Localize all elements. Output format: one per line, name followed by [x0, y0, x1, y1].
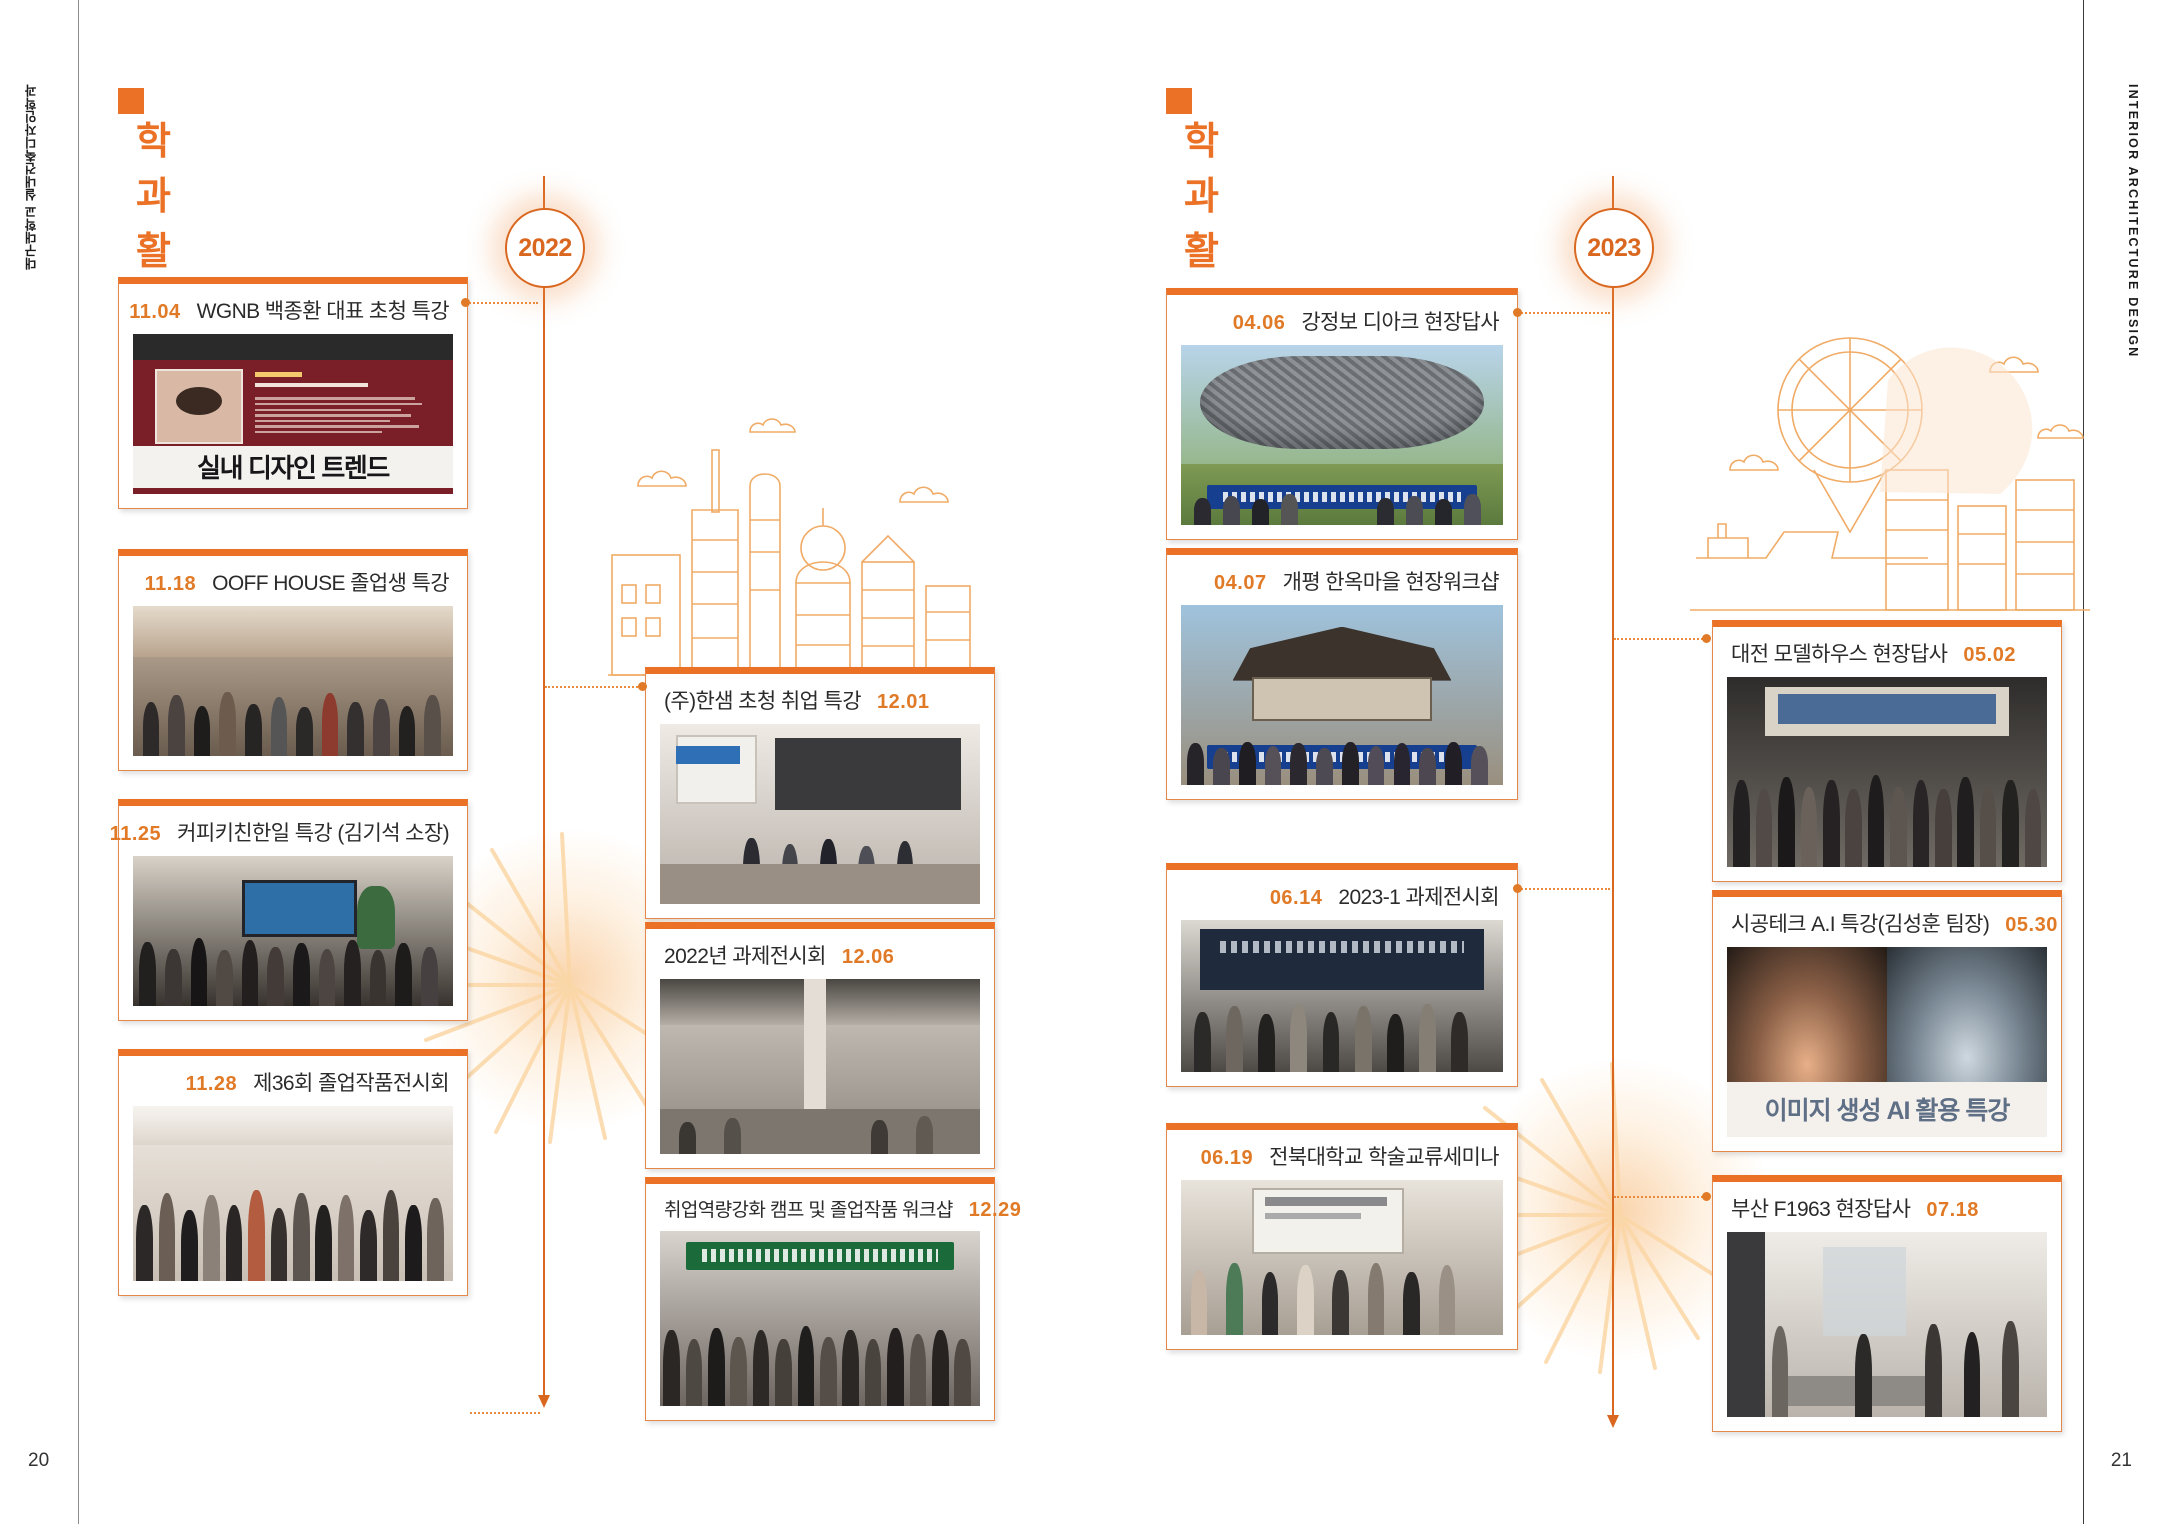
- event-card[interactable]: 부산 F1963 현장답사 07.18: [1712, 1175, 2062, 1432]
- year-badge-2022: 2022: [505, 208, 585, 288]
- connector-dot: [1513, 884, 1522, 893]
- event-card[interactable]: (주)한샘 초청 취업 특강 12.01: [645, 667, 995, 919]
- event-date: 07.18: [1926, 1199, 1979, 1222]
- magazine-spread: 대구대학교 실내건축디자인학과 INTERIOR ARCHITECTURE DE…: [0, 0, 2162, 1524]
- lecture-poster-image: 실내 디자인 트렌드: [133, 334, 453, 494]
- card-header: 11.25 커피키친한일 특강 (김기석 소장): [119, 806, 467, 856]
- event-title: 강정보 디아크 현장답사: [1301, 306, 1499, 336]
- event-photo: [1727, 677, 2047, 867]
- connector-line: [1614, 1196, 1706, 1198]
- event-title: 취업역량강화 캠프 및 졸업작품 워크샵: [664, 1195, 953, 1222]
- city-lineart-illustration: [600, 390, 980, 690]
- connector-line: [466, 302, 538, 304]
- event-photo: [660, 724, 980, 904]
- card-header: 11.28 제36회 졸업작품전시회: [119, 1056, 467, 1106]
- connector-line: [1614, 638, 1706, 640]
- card-header: 취업역량강화 캠프 및 졸업작품 워크샵 12.29: [646, 1184, 994, 1231]
- event-card[interactable]: 11.18 OOFF HOUSE 졸업생 특강: [118, 549, 468, 771]
- event-title: 부산 F1963 현장답사: [1731, 1193, 1910, 1223]
- card-header: 06.14 2023-1 과제전시회: [1167, 870, 1517, 920]
- event-photo: [133, 1106, 453, 1281]
- card-header: (주)한샘 초청 취업 특강 12.01: [646, 674, 994, 724]
- timeline-arrow-right: [1607, 1415, 1619, 1428]
- connector-dot: [1513, 308, 1522, 317]
- connector-line: [470, 1412, 540, 1414]
- event-title: 시공테크 A.I 특강(김성훈 팀장): [1731, 908, 1989, 938]
- event-date: 11.04: [129, 301, 180, 324]
- event-date: 06.14: [1270, 887, 1323, 910]
- left-margin-rule: [78, 0, 79, 1524]
- card-header: 시공테크 A.I 특강(김성훈 팀장) 05.30: [1713, 897, 2061, 947]
- timeline-spine-right: [1612, 176, 1614, 1416]
- page-number-right: 21: [2111, 1450, 2132, 1472]
- event-photo: [660, 979, 980, 1154]
- event-card[interactable]: 06.19 전북대학교 학술교류세미나: [1166, 1123, 1518, 1350]
- event-card[interactable]: 11.25 커피키친한일 특강 (김기석 소장): [118, 799, 468, 1021]
- connector-line: [1518, 312, 1610, 314]
- department-vertical-label: 대구대학교 실내건축디자인학과: [22, 84, 41, 270]
- event-photo: [133, 606, 453, 756]
- year-badge-2023: 2023: [1574, 208, 1654, 288]
- event-date: 05.02: [1963, 644, 2016, 667]
- card-header: 2022년 과제전시회 12.06: [646, 929, 994, 979]
- event-title: 제36회 졸업작품전시회: [253, 1067, 449, 1097]
- event-photo: [1181, 920, 1503, 1072]
- card-header: 04.06 강정보 디아크 현장답사: [1167, 295, 1517, 345]
- event-title: 전북대학교 학술교류세미나: [1269, 1141, 1499, 1171]
- event-card[interactable]: 시공테크 A.I 특강(김성훈 팀장) 05.30 이미지 생성 AI 활용 특…: [1712, 890, 2062, 1152]
- connector-dot: [461, 298, 470, 307]
- page-number-left: 20: [28, 1450, 49, 1472]
- connector-dot: [638, 682, 647, 691]
- event-title: 2022년 과제전시회: [664, 940, 826, 970]
- harbour-lineart-illustration: [1690, 320, 2090, 630]
- connector-line: [545, 686, 641, 688]
- card-header: 04.07 개평 한옥마을 현장워크샵: [1167, 555, 1517, 605]
- event-title: WGNB 백종환 대표 초청 특강: [197, 295, 449, 325]
- event-photo: [1181, 345, 1503, 525]
- event-date: 11.28: [186, 1073, 237, 1096]
- event-title: 2023-1 과제전시회: [1338, 881, 1499, 911]
- event-card[interactable]: 06.14 2023-1 과제전시회: [1166, 863, 1518, 1087]
- event-date: 11.18: [145, 573, 196, 596]
- connector-dot: [1702, 634, 1711, 643]
- event-date: 11.25: [110, 823, 161, 846]
- event-card[interactable]: 11.04 WGNB 백종환 대표 초청 특강 실내 디자인 트렌드: [118, 277, 468, 509]
- event-photo: [1181, 1180, 1503, 1335]
- event-card[interactable]: 취업역량강화 캠프 및 졸업작품 워크샵 12.29: [645, 1177, 995, 1421]
- timeline-spine-left: [543, 176, 545, 1396]
- card-header: 11.04 WGNB 백종환 대표 초청 특강: [119, 284, 467, 334]
- event-card[interactable]: 11.28 제36회 졸업작품전시회: [118, 1049, 468, 1296]
- connector-dot: [1702, 1192, 1711, 1201]
- connector-line: [1518, 888, 1610, 890]
- ai-image-caption: 이미지 생성 AI 활용 특강: [1727, 1082, 2047, 1137]
- timeline-arrow-left: [538, 1395, 550, 1408]
- event-card[interactable]: 04.07 개평 한옥마을 현장워크샵: [1166, 548, 1518, 800]
- event-date: 06.19: [1201, 1147, 1254, 1170]
- right-margin-rule: [2083, 0, 2084, 1524]
- event-title: OOFF HOUSE 졸업생 특강: [212, 567, 449, 597]
- poster-headline: 실내 디자인 트렌드: [133, 446, 453, 488]
- event-photo: [660, 1231, 980, 1406]
- event-photo: [1727, 1232, 2047, 1417]
- event-date: 05.30: [2005, 914, 2058, 937]
- event-card[interactable]: 04.06 강정보 디아크 현장답사: [1166, 288, 1518, 540]
- event-date: 12.06: [842, 946, 895, 969]
- event-title: (주)한샘 초청 취업 특강: [664, 685, 861, 715]
- event-photo: [1181, 605, 1503, 785]
- event-date: 04.06: [1233, 312, 1286, 335]
- event-photo: [133, 856, 453, 1006]
- card-header: 11.18 OOFF HOUSE 졸업생 특강: [119, 556, 467, 606]
- event-date: 12.01: [877, 691, 930, 714]
- program-vertical-label: INTERIOR ARCHITECTURE DESIGN: [2126, 84, 2140, 358]
- event-card[interactable]: 대전 모델하우스 현장답사 05.02: [1712, 620, 2062, 882]
- event-date: 12.29: [969, 1199, 1022, 1222]
- card-header: 대전 모델하우스 현장답사 05.02: [1713, 627, 2061, 677]
- event-photo: 이미지 생성 AI 활용 특강: [1727, 947, 2047, 1137]
- event-title: 개평 한옥마을 현장워크샵: [1283, 566, 1499, 596]
- event-date: 04.07: [1214, 572, 1267, 595]
- card-header: 부산 F1963 현장답사 07.18: [1713, 1182, 2061, 1232]
- event-title: 커피키친한일 특강 (김기석 소장): [177, 817, 449, 847]
- event-title: 대전 모델하우스 현장답사: [1731, 638, 1947, 668]
- event-card[interactable]: 2022년 과제전시회 12.06: [645, 922, 995, 1169]
- event-photo: 실내 디자인 트렌드: [133, 334, 453, 494]
- card-header: 06.19 전북대학교 학술교류세미나: [1167, 1130, 1517, 1180]
